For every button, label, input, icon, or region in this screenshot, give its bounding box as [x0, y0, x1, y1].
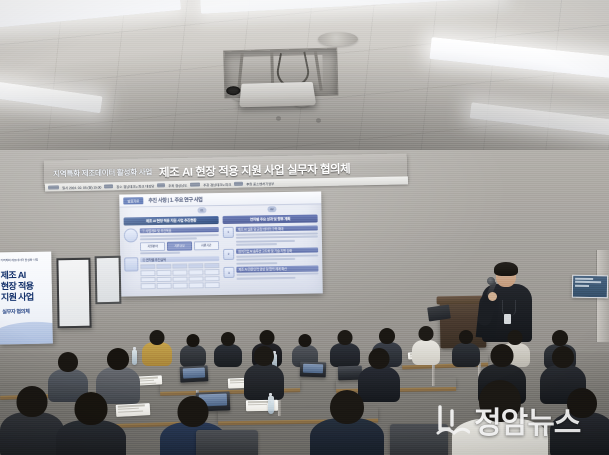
document-icon: [124, 228, 138, 242]
rollup-eyebrow: 지역특화 제조데이터 활성화 사업: [0, 258, 48, 264]
audience-member: [56, 392, 126, 455]
slide-right-item-body: 제조 AI 전문인력 양성 및 협력 체계 확산: [236, 265, 318, 279]
audience-body: [244, 364, 284, 400]
sponsor-logo-icon: [234, 182, 243, 186]
banner-sponsor-text: 주최 경상남도: [168, 182, 187, 187]
slide-item-label: ① 사업개요 및 추진목표: [140, 227, 219, 234]
audience-member: [452, 396, 548, 455]
slide-right-column: 연차별 주요 성과 및 향후 계획 1 제조 AI 실증 및 공정 데이터 구축…: [223, 214, 319, 291]
wall-sign: [572, 275, 608, 299]
step-number-icon: 2: [223, 248, 234, 259]
slide-right-item: 3 제조 AI 전문인력 양성 및 협력 체계 확산: [223, 265, 318, 279]
slide-step-badge-right: 02: [267, 206, 276, 212]
slide-text-line: [140, 237, 197, 240]
audience-head: [330, 390, 364, 424]
microphone-head-icon: [487, 277, 495, 285]
audience-head: [508, 330, 523, 345]
slide-right-header: 연차별 주요 성과 및 향후 계획: [223, 214, 318, 223]
audience-head: [552, 346, 574, 368]
rollup-title-line: 지원 사업: [1, 292, 49, 304]
slide-left-header: 제조 AI 현장 적용 지원 사업 추진현황: [124, 216, 219, 225]
banner-sponsor-text: 장소 경남테크노파크 대강당: [116, 183, 154, 189]
step-number-icon: 3: [223, 267, 234, 278]
presenter: [478, 262, 540, 340]
table-row: [141, 282, 220, 289]
slide-table-cell: 지원기간: [194, 241, 219, 250]
audience-head: [479, 380, 521, 422]
audience-head: [552, 330, 568, 346]
audience-body: [214, 344, 242, 367]
slide-item-label: 제조 AI 실증 및 공정 데이터 구축 확대: [236, 225, 318, 232]
audience-body: [550, 412, 609, 455]
sponsor-logo-icon: [104, 184, 113, 188]
slide-tag-badge: 발표자료: [123, 197, 143, 204]
slide-right-item: 1 제조 AI 실증 및 공정 데이터 구축 확대: [223, 225, 318, 246]
ceiling: [0, 0, 609, 152]
slide-mini-table: 지원분야 지원규모 지원기간: [140, 241, 219, 251]
slide-left-item: ① 사업개요 및 추진목표 지원분야 지원규모 지원기간: [124, 227, 219, 255]
rollup-title-line: 현장 적용: [1, 281, 49, 293]
slide-text-line: [236, 272, 318, 275]
presenter-hand: [488, 292, 497, 301]
presenter-hair: [494, 262, 518, 276]
ceiling-shading: [0, 0, 609, 152]
slide-left-item-body: ① 사업개요 및 추진목표 지원분야 지원규모 지원기간: [140, 227, 219, 255]
audience-member: [330, 330, 360, 366]
slide-item-label: ② 연차별 추진실적: [140, 256, 219, 263]
slide-item-label: 참여기업 AI 솔루션 고도화 및 기술 지원 강화: [236, 247, 318, 254]
audience-member: [142, 330, 172, 364]
whiteboard: [56, 258, 91, 329]
sponsor-logo-icon: [157, 183, 165, 187]
sponsor-logo-icon: [190, 183, 200, 187]
audience-member: [452, 330, 480, 366]
slide-step-badge-left: 01: [197, 207, 206, 213]
audience-head: [369, 348, 390, 369]
slide-text-line: [140, 252, 180, 255]
audience-body: [412, 340, 440, 365]
step-number-icon: 1: [223, 226, 234, 237]
slide-text-line: [236, 254, 318, 257]
audience-body: [452, 418, 548, 455]
audience-head: [459, 330, 473, 344]
audience-head: [254, 346, 274, 366]
audience-head: [58, 352, 78, 372]
slide-data-table: [140, 263, 219, 290]
slide-item-label: 제조 AI 전문인력 양성 및 협력 체계 확산: [236, 265, 318, 272]
slide-text-line: [237, 276, 296, 279]
audience-head: [379, 328, 395, 344]
slide-text-line: [236, 235, 318, 238]
laptop[interactable]: [180, 365, 209, 382]
audience-head: [187, 334, 200, 347]
chair: [196, 430, 258, 455]
audience-body: [142, 342, 172, 366]
rollup-banner: 지역특화 제조데이터 활성화 사업 제조 AI 현장 적용 지원 사업 실무자 …: [0, 252, 53, 345]
banner-sponsor-text: 일시 2024. 02. 05.(월) 15:00: [62, 184, 101, 190]
audience-head: [75, 392, 108, 425]
audience-body: [56, 420, 126, 455]
audience-member: [0, 386, 64, 455]
wall-sign-line: [575, 278, 593, 280]
audience-head: [338, 330, 353, 345]
audience-head: [491, 344, 514, 367]
water-bottle: [268, 396, 274, 414]
chart-icon: [124, 257, 138, 271]
slide-text-line: [236, 243, 277, 246]
slide-left-item-body: ② 연차별 추진실적: [140, 256, 219, 290]
audience-head: [260, 330, 275, 345]
wall-sign-line: [575, 281, 601, 283]
audience-body: [0, 412, 64, 455]
slide-text-line: [140, 234, 219, 237]
sponsor-logo-icon: [48, 185, 59, 189]
banner-sponsor-text: 후원 중소벤처기업부: [246, 181, 274, 187]
rollup-footer: 실무자 협의체: [2, 308, 29, 315]
audience-member: [310, 390, 384, 455]
audience-member: [412, 326, 440, 364]
slide-left-column: 제조 AI 현장 적용 지원 사업 추진현황 ① 사업개요 및 추진목표 지원분…: [124, 216, 220, 293]
audience-head: [221, 332, 235, 346]
slide-text-line: [236, 258, 295, 261]
slide-header: 발표자료 추진 사항 | 1. 주요 연구 사업: [119, 191, 321, 207]
audience-body: [452, 343, 480, 367]
slide-right-item: 2 참여기업 AI 솔루션 고도화 및 기술 지원 강화: [223, 247, 318, 264]
audience-member: [244, 346, 284, 398]
audience-body: [330, 343, 360, 367]
presenter-badge: [504, 314, 511, 324]
audience-member: [550, 388, 609, 455]
audience-member: [214, 332, 242, 366]
seminar-room-photo: 지역특화 제조데이터 활성화 사업 제조 AI 현장 적용 지원 사업 실무자 …: [0, 0, 609, 455]
slide-table-cell: 지원분야: [140, 241, 165, 250]
slide-text-line: [236, 262, 277, 265]
audience-head: [178, 396, 209, 427]
whiteboard-secondary: [95, 256, 122, 304]
slide-right-item-body: 참여기업 AI 솔루션 고도화 및 기술 지원 강화: [236, 247, 318, 264]
laptop[interactable]: [300, 362, 327, 378]
audience-body: [180, 345, 206, 367]
slide-text-line: [236, 239, 295, 242]
rollup-decoration: [0, 321, 53, 344]
slide-right-item-body: 제조 AI 실증 및 공정 데이터 구축 확대: [236, 225, 318, 246]
audience-head: [17, 386, 48, 417]
chair: [390, 424, 448, 455]
audience-member: [180, 334, 206, 366]
slide-title: 추진 사항 | 1. 주요 연구 사업: [148, 196, 202, 204]
rollup-title-line: 제조 AI: [1, 270, 49, 282]
banner-sponsor-text: 주관 경남테크노파크: [203, 181, 231, 187]
projection-screen: 발표자료 추진 사항 | 1. 주요 연구 사업 01 02 제조 AI 현장 …: [119, 191, 323, 296]
wall-sign-line: [575, 285, 589, 287]
audience-head: [419, 326, 434, 341]
audience-head: [567, 388, 597, 418]
slide-table-cell: 지원규모: [167, 241, 192, 250]
slide-columns: 제조 AI 현장 적용 지원 사업 추진현황 ① 사업개요 및 추진목표 지원분…: [124, 214, 319, 293]
audience-head: [150, 330, 165, 345]
audience-head: [299, 334, 312, 347]
audience-head: [107, 348, 129, 370]
rollup-title-block: 제조 AI 현장 적용 지원 사업: [1, 270, 50, 304]
slide-left-item: ② 연차별 추진실적: [124, 256, 219, 290]
